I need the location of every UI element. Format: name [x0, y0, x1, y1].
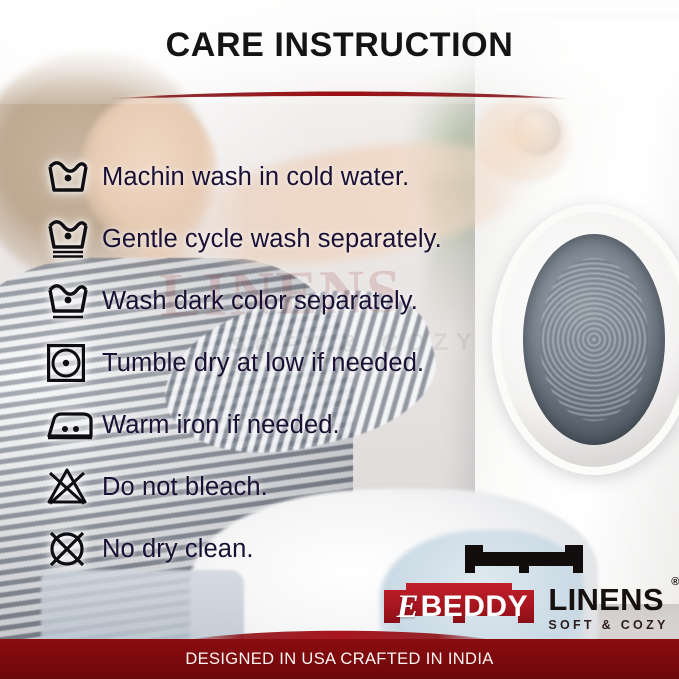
instruction-row: Do not bleach.	[0, 456, 679, 518]
footer-text: DESIGNED IN USA CRAFTED IN INDIA	[185, 650, 493, 669]
instruction-row: Tumble dry at low if needed.	[0, 332, 679, 394]
instruction-row: Machin wash in cold water.	[0, 146, 679, 208]
logo-brand-name: BEDDY	[421, 590, 529, 624]
logo-secondary-group: LINENS ® SOFT & COZY	[539, 584, 668, 635]
logo-word-linens: LINENS ®	[548, 584, 668, 615]
iron-warm-icon	[46, 401, 102, 449]
footer-banner: DESIGNED IN USA CRAFTED IN INDIA	[0, 639, 679, 679]
title-divider-rule	[105, 88, 575, 101]
instruction-text: Warm iron if needed.	[102, 411, 340, 440]
logo-word-linens-text: LINENS	[548, 582, 663, 617]
do-not-bleach-icon	[46, 463, 102, 511]
logo-tagline: SOFT & COZY	[548, 618, 668, 632]
instruction-row: Wash dark color separately.	[0, 270, 679, 332]
wash-tub-cold-icon	[46, 153, 102, 201]
brand-logo: E BEDDY LINENS ® SOFT & COZY	[379, 539, 669, 635]
instruction-text: Machin wash in cold water.	[102, 163, 409, 192]
instruction-list: Machin wash in cold water. Gentle cycle …	[0, 146, 679, 580]
care-instruction-card: LINENS SOFT & COZY CARE INSTRUCTION	[0, 0, 679, 679]
instruction-row: Warm iron if needed.	[0, 394, 679, 456]
page-title: CARE INSTRUCTION	[0, 26, 679, 65]
instruction-text: Do not bleach.	[102, 473, 268, 502]
instruction-text: No dry clean.	[102, 535, 254, 564]
bed-icon	[461, 539, 587, 581]
logo-monogram: E	[397, 589, 419, 626]
instruction-row: Gentle cycle wash separately.	[0, 208, 679, 270]
instruction-text: Wash dark color separately.	[102, 287, 418, 316]
header: CARE INSTRUCTION	[0, 0, 679, 65]
instruction-text: Tumble dry at low if needed.	[102, 349, 424, 378]
wash-tub-permanent-icon	[46, 277, 102, 325]
wash-tub-gentle-icon	[46, 215, 102, 263]
tumble-dry-low-icon	[46, 339, 102, 387]
registered-mark-icon: ®	[671, 577, 679, 588]
instruction-text: Gentle cycle wash separately.	[102, 225, 442, 254]
no-dry-clean-icon	[46, 525, 102, 573]
